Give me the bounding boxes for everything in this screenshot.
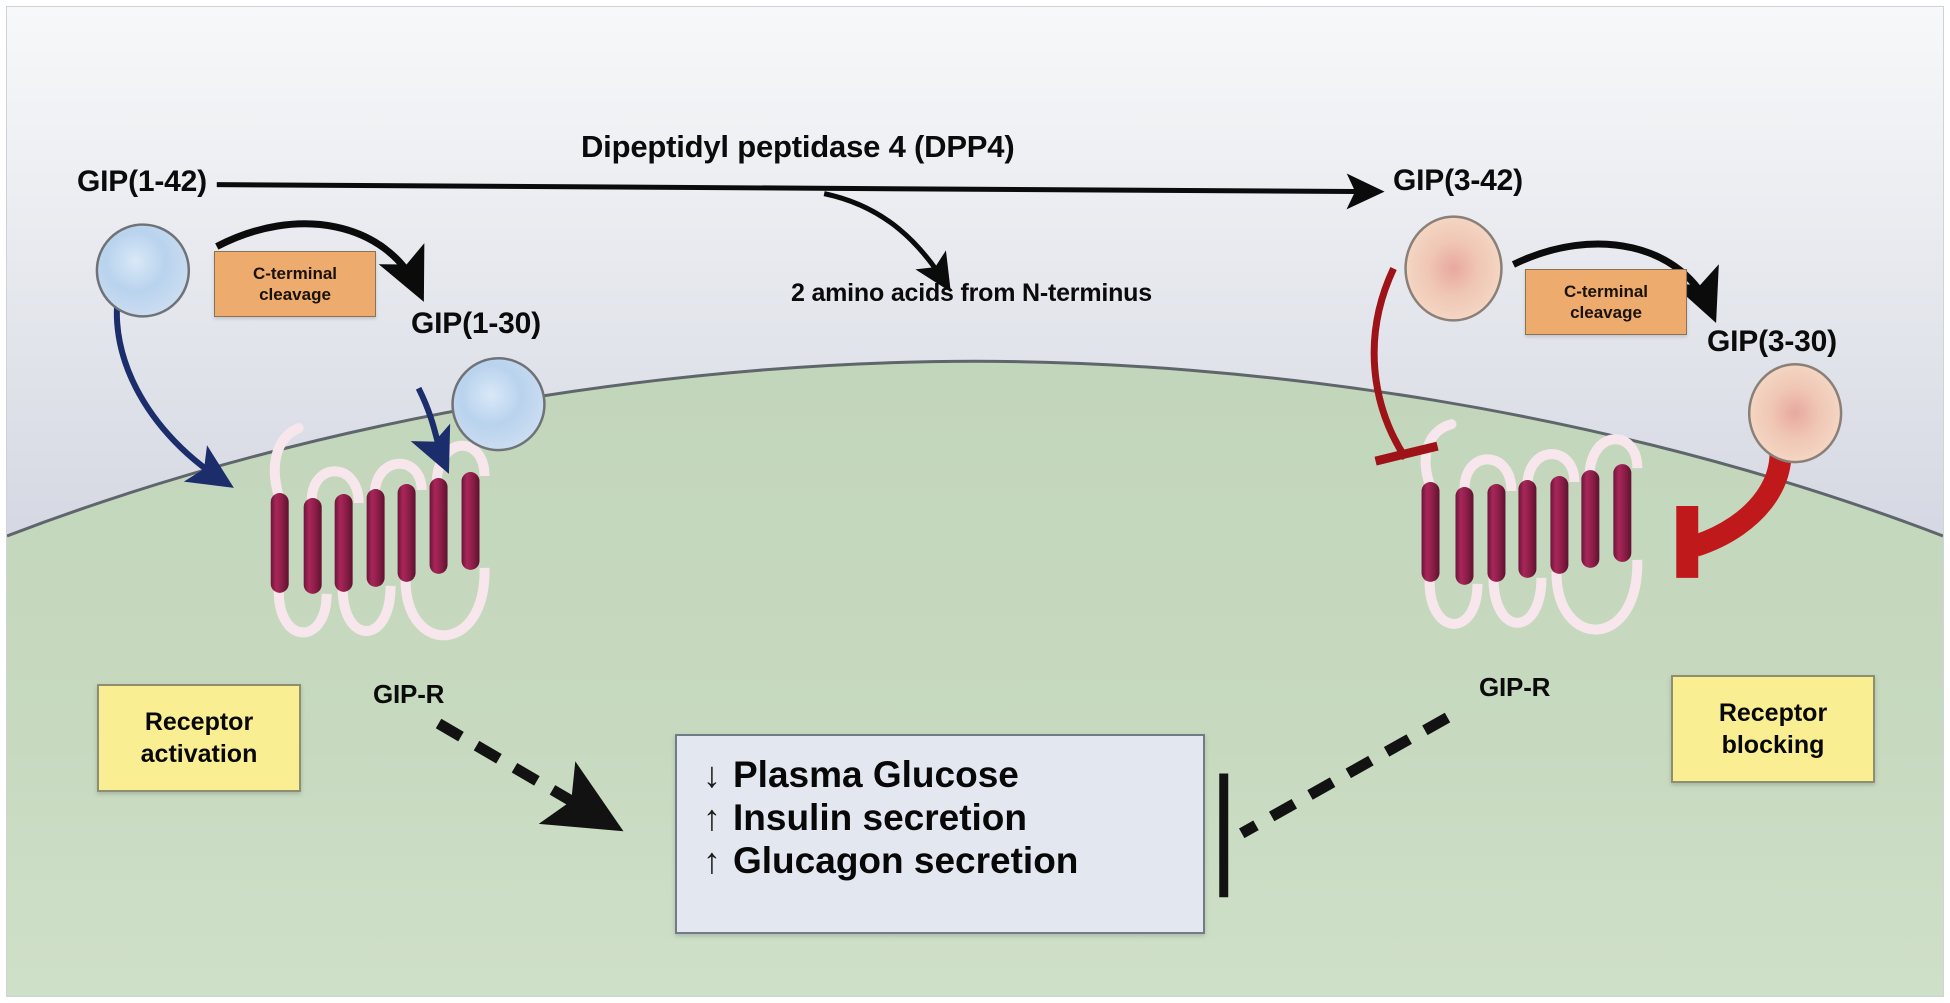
diagram-frame: Dipeptidyl peptidase 4 (DPP4) 2 amino ac… (6, 6, 1944, 997)
outcome-activation-line2: activation (141, 738, 258, 771)
outcome-box-receptor-blocking: Receptor blocking (1671, 675, 1875, 783)
peptide-sphere-gip330 (1749, 364, 1841, 462)
effect-row: ↑Insulin secretion (703, 797, 1173, 840)
dpp4-label: Dipeptidyl peptidase 4 (DPP4) (581, 129, 1014, 165)
outcome-blocking-line2: blocking (1722, 729, 1825, 762)
cleavage-box-right-line1: C-terminal (1564, 281, 1648, 302)
effect-direction-icon: ↓ (703, 754, 733, 796)
effect-row: ↓Plasma Glucose (703, 754, 1173, 797)
outcome-box-receptor-activation: Receptor activation (97, 684, 301, 792)
cleavage-box-right: C-terminal cleavage (1525, 269, 1687, 335)
effect-direction-icon: ↑ (703, 840, 733, 882)
peptide-sphere-gip342 (1406, 217, 1502, 321)
cleavage-box-left-line2: cleavage (259, 284, 331, 305)
figure-canvas: Dipeptidyl peptidase 4 (DPP4) 2 amino ac… (0, 0, 1950, 1003)
effect-direction-icon: ↑ (703, 797, 733, 839)
n-terminus-note: 2 amino acids from N-terminus (791, 279, 1152, 308)
outcome-blocking-line1: Receptor (1719, 697, 1827, 730)
cleavage-box-left-line1: C-terminal (253, 263, 337, 284)
label-gip-3-42: GIP(3-42) (1393, 164, 1523, 198)
effects-row-list: ↓Plasma Glucose↑Insulin secretion↑Glucag… (703, 754, 1173, 883)
effect-label: Plasma Glucose (733, 754, 1173, 797)
cleavage-box-left: C-terminal cleavage (214, 251, 376, 317)
cleavage-box-right-line2: cleavage (1570, 302, 1642, 323)
label-gip-3-30: GIP(3-30) (1707, 325, 1837, 359)
outcome-activation-line1: Receptor (145, 706, 253, 739)
peptide-sphere-gip142 (97, 225, 189, 317)
effect-row: ↑Glucagon secretion (703, 840, 1173, 883)
effect-label: Glucagon secretion (733, 840, 1173, 883)
peptide-sphere-gip130 (453, 358, 545, 450)
effect-label: Insulin secretion (733, 797, 1173, 840)
effects-box: ↓Plasma Glucose↑Insulin secretion↑Glucag… (675, 734, 1205, 934)
label-gip-1-30: GIP(1-30) (411, 307, 541, 341)
label-gip-1-42: GIP(1-42) (77, 165, 207, 199)
label-gip-r-right: GIP-R (1479, 672, 1550, 703)
label-gip-r-left: GIP-R (373, 679, 444, 710)
